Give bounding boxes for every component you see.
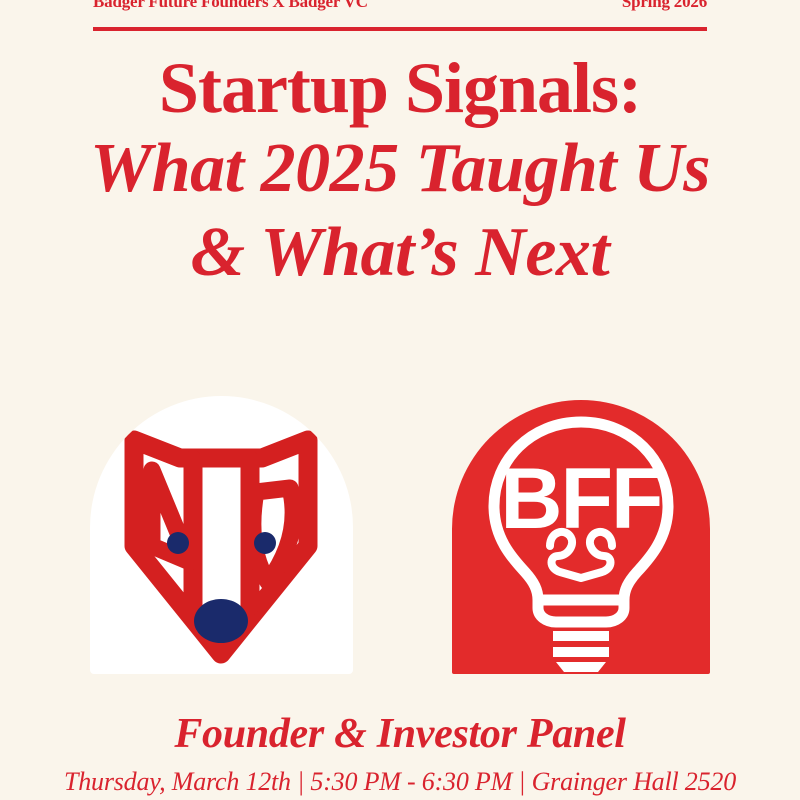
- poster-title: Startup Signals:: [0, 52, 800, 124]
- header-divider: [93, 27, 707, 31]
- poster-subtitle-line-2: & What’s Next: [0, 214, 800, 292]
- event-headline: Founder & Investor Panel: [0, 712, 800, 756]
- badger-right-eye: [254, 532, 276, 554]
- logo-row: BFF: [0, 396, 800, 676]
- organizer-names: Badger Future Founders X Badger VC: [93, 0, 368, 12]
- lightbulb-bff-icon: BFF: [452, 400, 710, 674]
- badger-vc-logo-card: [90, 396, 353, 674]
- badger-head-icon: [90, 396, 353, 674]
- poster-subtitle-line-1: What 2025 Taught Us: [0, 130, 800, 208]
- bff-logo-card: BFF: [452, 400, 710, 674]
- title-block: Startup Signals: What 2025 Taught Us & W…: [0, 52, 800, 293]
- badger-left-eye: [167, 532, 189, 554]
- bff-letters: BFF: [500, 451, 661, 547]
- poster-header: Badger Future Founders X Badger VC Sprin…: [93, 0, 707, 13]
- term-label: Spring 2026: [622, 0, 707, 12]
- poster-footer: Founder & Investor Panel Thursday, March…: [0, 712, 800, 797]
- event-poster: Badger Future Founders X Badger VC Sprin…: [0, 0, 800, 800]
- badger-nose: [194, 599, 248, 643]
- event-details: Thursday, March 12th | 5:30 PM - 6:30 PM…: [0, 768, 800, 797]
